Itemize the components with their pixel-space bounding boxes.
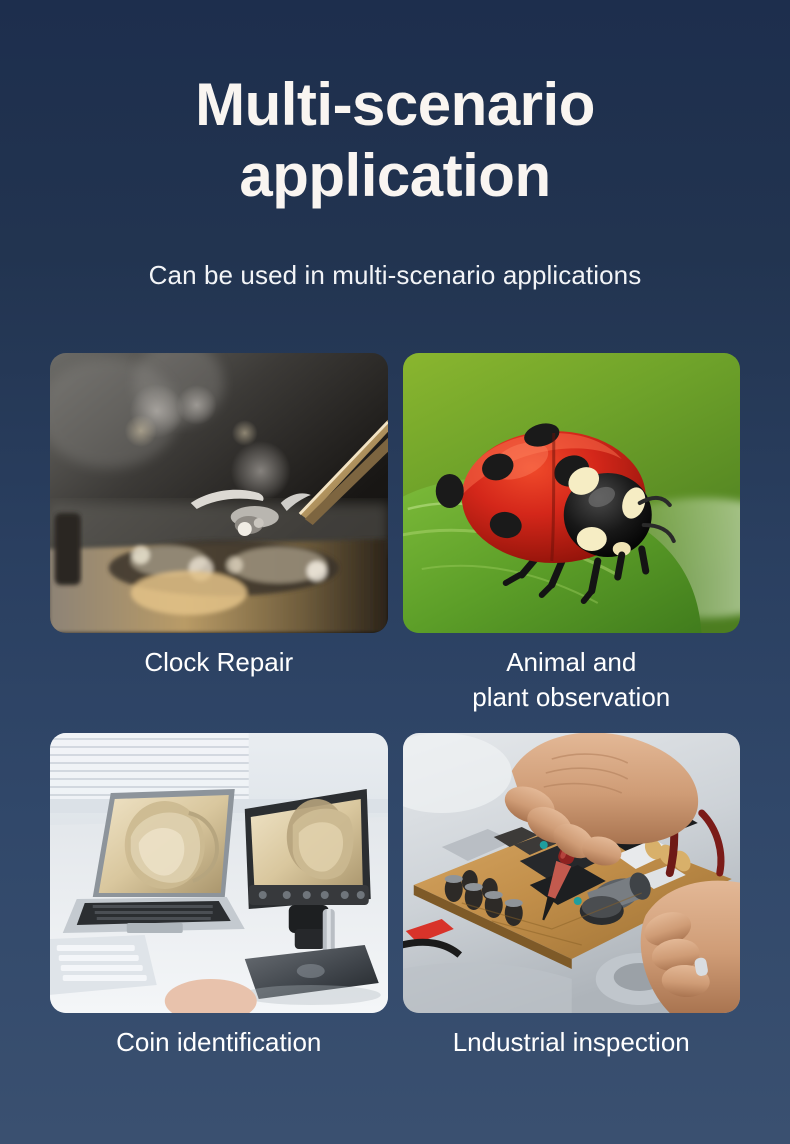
- circuit-board-probe-photo: [403, 733, 741, 1013]
- page-subtitle: Can be used in multi-scenario applicatio…: [0, 260, 790, 291]
- scenario-card-clock-repair[interactable]: Clock Repair: [50, 353, 388, 717]
- scenario-card-coin-identification[interactable]: Coin identification: [50, 733, 388, 1061]
- scenario-card-label: Clock Repair: [144, 645, 293, 681]
- scenario-grid: Clock Repair: [0, 353, 790, 1062]
- grid-row-spacer: [50, 716, 740, 733]
- ladybug-on-leaf-photo: [403, 353, 741, 633]
- scenario-card-label: Coin identification: [116, 1025, 321, 1061]
- coin-microscope-photo: [50, 733, 388, 1013]
- scenario-card-label: Animal and plant observation: [472, 645, 670, 717]
- hero-header: Multi-scenario application Can be used i…: [0, 0, 790, 291]
- scenario-card-industrial-inspection[interactable]: Lndustrial inspection: [403, 733, 741, 1061]
- clock-repair-photo: [50, 353, 388, 633]
- scenario-card-label: Lndustrial inspection: [453, 1025, 690, 1061]
- page-title: Multi-scenario application: [0, 70, 790, 212]
- scenario-card-animal-plant[interactable]: Animal and plant observation: [403, 353, 741, 717]
